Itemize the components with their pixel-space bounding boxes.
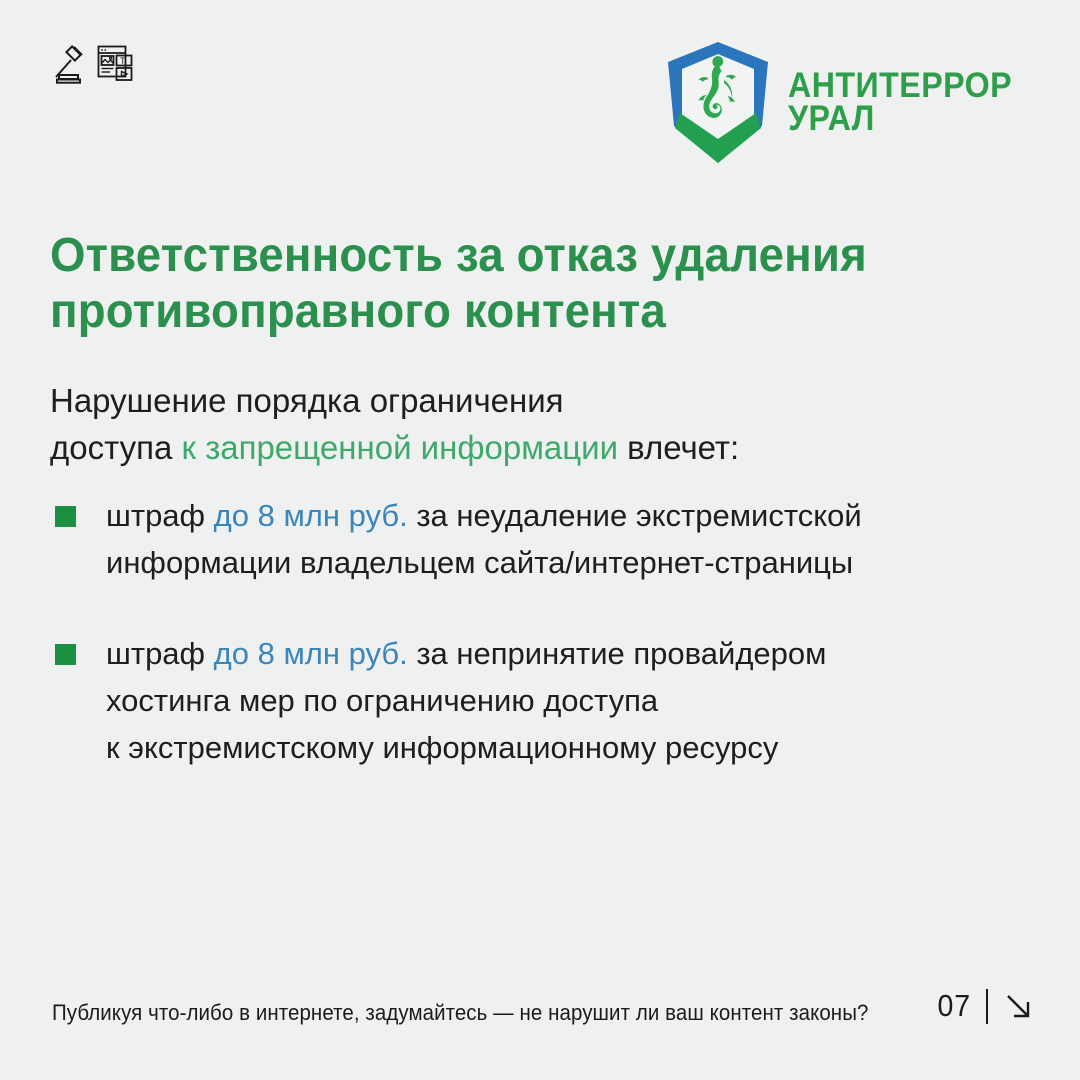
subtitle-line-1: Нарушение порядка ограничения	[50, 378, 950, 425]
fine-amount: до 8 млн руб.	[214, 498, 408, 533]
subtitle: Нарушение порядка ограничения доступа к …	[50, 378, 950, 472]
fine-suffix: за неудаление экстремистской	[408, 498, 862, 533]
list-item: штраф до 8 млн руб. за непринятие провай…	[50, 630, 1040, 771]
gavel-icon	[52, 44, 86, 84]
page-title-line-1: Ответственность за отказ удаления	[50, 228, 810, 284]
bullet-square-icon	[55, 506, 76, 527]
fine-prefix: штраф	[106, 498, 214, 533]
subtitle-line2-before: доступа	[50, 429, 181, 466]
arrow-down-right-icon	[1002, 990, 1034, 1022]
list-item-text: штраф до 8 млн руб. за непринятие провай…	[106, 630, 1040, 771]
page-title: Ответственность за отказ удаления против…	[50, 228, 810, 340]
page-divider	[986, 989, 988, 1024]
svg-text:T: T	[120, 56, 126, 66]
header: T	[0, 0, 1080, 200]
logo-text-line2: УРАЛ	[788, 103, 1012, 136]
page-indicator: 07	[936, 988, 1034, 1024]
list-item: штраф до 8 млн руб. за неудаление экстре…	[50, 492, 1040, 586]
bullet-list: штраф до 8 млн руб. за неудаление экстре…	[50, 492, 1040, 772]
page-number: 07	[937, 988, 971, 1024]
footer: Публикуя что-либо в интернете, задумайте…	[0, 970, 1080, 1080]
bullet-square-icon	[55, 644, 76, 665]
footer-note: Публикуя что-либо в интернете, задумайте…	[52, 1000, 868, 1026]
fine-prefix: штраф	[106, 636, 214, 671]
list-item-line-2: информации владельцем сайта/интернет-стр…	[106, 539, 1040, 586]
list-item-line-1: штраф до 8 млн руб. за непринятие провай…	[106, 630, 1040, 677]
shield-lizard-logo	[666, 40, 770, 165]
logo-text: АНТИТЕРРОР УРАЛ	[788, 70, 1032, 136]
subtitle-highlight: к запрещенной информации	[181, 429, 618, 466]
list-item-text: штраф до 8 млн руб. за неудаление экстре…	[106, 492, 1040, 586]
list-item-line-2: хостинга мер по ограничению доступа	[106, 677, 1040, 724]
subtitle-line2-after: влечет:	[618, 429, 739, 466]
logo: АНТИТЕРРОР УРАЛ	[666, 40, 1032, 165]
list-item-line-3: к экстремистскому информационному ресурс…	[106, 724, 1040, 771]
fine-amount: до 8 млн руб.	[214, 636, 408, 671]
slide-root: { "background_color": "#eff0f0", "header…	[0, 0, 1080, 1080]
web-content-icon: T	[97, 44, 135, 84]
page-title-line-2: противоправного контента	[50, 284, 810, 340]
subtitle-line-2: доступа к запрещенной информации влечет:	[50, 425, 950, 472]
header-icon-group: T	[52, 44, 135, 84]
list-item-line-1: штраф до 8 млн руб. за неудаление экстре…	[106, 492, 1040, 539]
fine-suffix: за непринятие провайдером	[408, 636, 827, 671]
